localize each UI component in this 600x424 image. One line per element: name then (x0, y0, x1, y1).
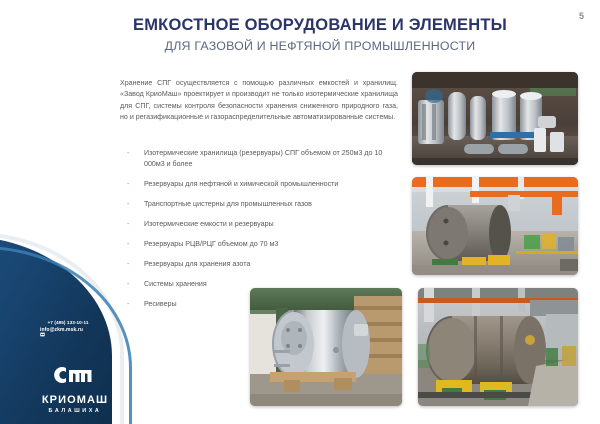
list-item-label: Резервуары для хранения азота (144, 260, 250, 268)
slide-root: +7 (495) 133-10-11 info@zkm.msk.ru КРИОМ… (0, 0, 600, 424)
cm-monogram-icon (36, 362, 114, 393)
bullet-dash: - (127, 179, 129, 190)
list-item-label: Транспортные цистерны для промышленных г… (144, 200, 312, 208)
list-item: -Резервуары РЦВ/РЦГ объемом до 70 м3 (127, 239, 402, 250)
list-item-label: Изотермические хранилища (резервуары) СП… (144, 149, 382, 168)
logo-company-name: КРИОМАШ (36, 394, 114, 406)
bullet-dash: - (127, 148, 129, 159)
list-item: -Изотермические хранилища (резервуары) С… (127, 148, 402, 170)
contact-email[interactable]: info@zkm.msk.ru (40, 327, 89, 334)
logo-company-location: БАЛАШИХА (36, 408, 114, 414)
list-item: -Резервуары для хранения азота (127, 259, 402, 270)
contact-phone[interactable]: +7 (495) 133-10-11 (48, 320, 89, 327)
list-item-label: Ресиверы (144, 300, 177, 308)
contact-phone-row: +7 (495) 133-10-11 (40, 320, 89, 327)
photo-tank-big (418, 288, 578, 406)
contact-block: +7 (495) 133-10-11 info@zkm.msk.ru (40, 320, 89, 334)
page-subtitle: ДЛЯ ГАЗОВОЙ И НЕФТЯНОЙ ПРОМЫШЛЕННОСТИ (80, 40, 560, 54)
list-item-label: Системы хранения (144, 280, 207, 288)
page-title: ЕМКОСТНОЕ ОБОРУДОВАНИЕ И ЭЛЕМЕНТЫ (80, 16, 560, 34)
list-item-label: Резервуары для нефтяной и химической про… (144, 180, 338, 188)
list-item: -Резервуары для нефтяной и химической пр… (127, 179, 402, 190)
photo-workshop (412, 177, 578, 275)
bullet-dash: - (127, 199, 129, 210)
list-item-label: Резервуары РЦВ/РЦГ объемом до 70 м3 (144, 240, 278, 248)
list-item: -Изотермические емкости и резервуары (127, 219, 402, 230)
bullet-dash: - (127, 279, 129, 290)
bullet-dash: - (127, 259, 129, 270)
photo-vessels (412, 72, 578, 165)
list-item: -Транспортные цистерны для промышленных … (127, 199, 402, 210)
bullet-dash: - (127, 239, 129, 250)
list-item-label: Изотермические емкости и резервуары (144, 220, 274, 228)
bullet-dash: - (127, 299, 129, 310)
company-logo: КРИОМАШ БАЛАШИХА (36, 362, 114, 414)
bullet-dash: - (127, 219, 129, 230)
phone-icon (40, 321, 45, 326)
intro-paragraph: Хранение СПГ осуществляется с помощью ра… (120, 78, 398, 124)
page-number: 5 (579, 11, 584, 21)
photo-tank-wood (250, 288, 402, 406)
